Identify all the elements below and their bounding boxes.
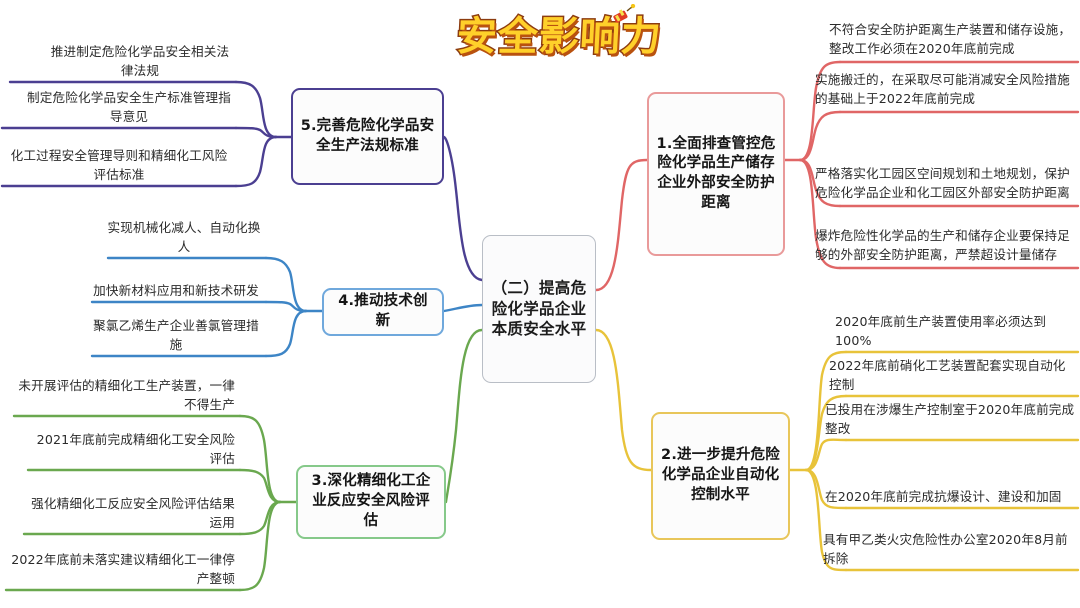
leaf-b5-1-text: 推进制定危险化学品安全相关法律法规 — [49, 43, 231, 80]
mindmap-canvas: 安全影响力 （二）提高危险化学品企业本质安全水平 1.全面排查管控危险化学品生产… — [0, 0, 1080, 608]
branch-node-1-label: 1.全面排查管控危险化学品生产储存企业外部安全防护距离 — [656, 135, 776, 214]
branch-node-4[interactable]: 4.推动技术创新 — [322, 288, 444, 336]
leaf-b5-2-text: 制定危险化学品安全生产标准管理指导意见 — [27, 89, 231, 126]
leaf-b3-3[interactable]: 强化精细化工反应安全风险评估结果运用 — [18, 512, 238, 534]
leaf-b2-2[interactable]: 2022年底前硝化工艺装置配套实现自动化控制 — [826, 374, 1078, 396]
leaf-b5-1[interactable]: 推进制定危险化学品安全相关法律法规 — [46, 60, 234, 82]
branch-node-3[interactable]: 3.深化精细化工企业反应安全风险评估 — [296, 465, 446, 539]
branch-node-5[interactable]: 5.完善危险化学品安全生产法规标准 — [291, 88, 444, 185]
branch-node-2[interactable]: 2.进一步提升危险化学品企业自动化控制水平 — [651, 412, 790, 540]
leaf-b1-2[interactable]: 实施搬迁的，在采取尽可能消减安全风险措施的基础上于2022年底前完成 — [812, 68, 1076, 110]
branch-node-4-label: 4.推动技术创新 — [331, 292, 435, 331]
leaf-b2-5[interactable]: 具有甲乙类火灾危险性办公室2020年8月前拆除 — [820, 548, 1078, 570]
leaf-b2-3-text: 已投用在涉爆生产控制室于2020年底前完成整改 — [825, 401, 1075, 438]
leaf-b4-1-text: 实现机械化减人、自动化换人 — [107, 219, 261, 256]
leaf-b3-1[interactable]: 未开展评估的精细化工生产装置，一律不得生产 — [6, 394, 238, 416]
leaf-b2-4[interactable]: 在2020年底前完成抗爆设计、建设和加固 — [822, 486, 1078, 508]
center-node[interactable]: （二）提高危险化学品企业本质安全水平 — [482, 235, 596, 383]
leaf-b1-1-text: 不符合安全防护距离生产装置和储存设施，整改工作必须在2020年底前完成 — [829, 21, 1075, 58]
leaf-b4-1[interactable]: 实现机械化减人、自动化换人 — [104, 236, 264, 258]
leaf-b3-2-text: 2021年底前完成精细化工安全风险评估 — [25, 431, 235, 468]
leaf-b3-4[interactable]: 2022年底前未落实建议精细化工一律停产整顿 — [2, 568, 238, 590]
branch-node-3-label: 3.深化精细化工企业反应安全风险评估 — [305, 472, 437, 531]
site-logo: 安全影响力 — [448, 2, 670, 64]
firecracker-icon — [610, 4, 636, 28]
leaf-b1-4[interactable]: 爆炸危险性化学品的生产和储存企业要保持足够的外部安全防护距离，严禁超设计量储存 — [812, 224, 1078, 266]
leaf-b3-4-text: 2022年底前未落实建议精细化工一律停产整顿 — [5, 551, 235, 588]
leaf-b3-3-text: 强化精细化工反应安全风险评估结果运用 — [21, 495, 235, 532]
leaf-b3-1-text: 未开展评估的精细化工生产装置，一律不得生产 — [9, 377, 235, 414]
leaf-b2-4-text: 在2020年底前完成抗爆设计、建设和加固 — [825, 488, 1075, 506]
leaf-b1-1[interactable]: 不符合安全防护距离生产装置和储存设施，整改工作必须在2020年底前完成 — [826, 18, 1078, 60]
leaf-b1-2-text: 实施搬迁的，在采取尽可能消减安全风险措施的基础上于2022年底前完成 — [815, 71, 1073, 108]
branch-node-1[interactable]: 1.全面排查管控危险化学品生产储存企业外部安全防护距离 — [647, 92, 785, 256]
leaf-b1-3[interactable]: 严格落实化工园区空间规划和土地规划，保护危险化学品企业和化工园区外部安全防护距离 — [812, 162, 1078, 204]
leaf-b4-3[interactable]: 聚氯乙烯生产企业善氯管理措施 — [88, 334, 264, 356]
center-node-label: （二）提高危险化学品企业本质安全水平 — [489, 278, 589, 340]
leaf-b5-3-text: 化工过程安全管理导则和精细化工风险评估标准 — [7, 147, 231, 184]
leaf-b2-3[interactable]: 已投用在涉爆生产控制室于2020年底前完成整改 — [822, 418, 1078, 440]
leaf-b2-2-text: 2022年底前硝化工艺装置配套实现自动化控制 — [829, 357, 1075, 394]
leaf-b4-3-text: 聚氯乙烯生产企业善氯管理措施 — [91, 317, 261, 354]
leaf-b2-1[interactable]: 2020年底前生产装置使用率必须达到100% — [832, 330, 1078, 352]
leaf-b4-2[interactable]: 加快新材料应用和新技术研发 — [88, 280, 264, 302]
leaf-b1-3-text: 严格落实化工园区空间规划和土地规划，保护危险化学品企业和化工园区外部安全防护距离 — [815, 165, 1075, 202]
leaf-b4-2-text: 加快新材料应用和新技术研发 — [91, 282, 261, 300]
branch-node-2-label: 2.进一步提升危险化学品企业自动化控制水平 — [660, 446, 781, 505]
leaf-b5-2[interactable]: 制定危险化学品安全生产标准管理指导意见 — [24, 106, 234, 128]
leaf-b3-2[interactable]: 2021年底前完成精细化工安全风险评估 — [22, 448, 238, 470]
leaf-b2-5-text: 具有甲乙类火灾危险性办公室2020年8月前拆除 — [823, 531, 1075, 568]
leaf-b1-4-text: 爆炸危险性化学品的生产和储存企业要保持足够的外部安全防护距离，严禁超设计量储存 — [815, 227, 1075, 264]
leaf-b2-1-text: 2020年底前生产装置使用率必须达到100% — [835, 313, 1075, 350]
leaf-b5-3[interactable]: 化工过程安全管理导则和精细化工风险评估标准 — [4, 164, 234, 186]
branch-node-5-label: 5.完善危险化学品安全生产法规标准 — [300, 117, 435, 156]
